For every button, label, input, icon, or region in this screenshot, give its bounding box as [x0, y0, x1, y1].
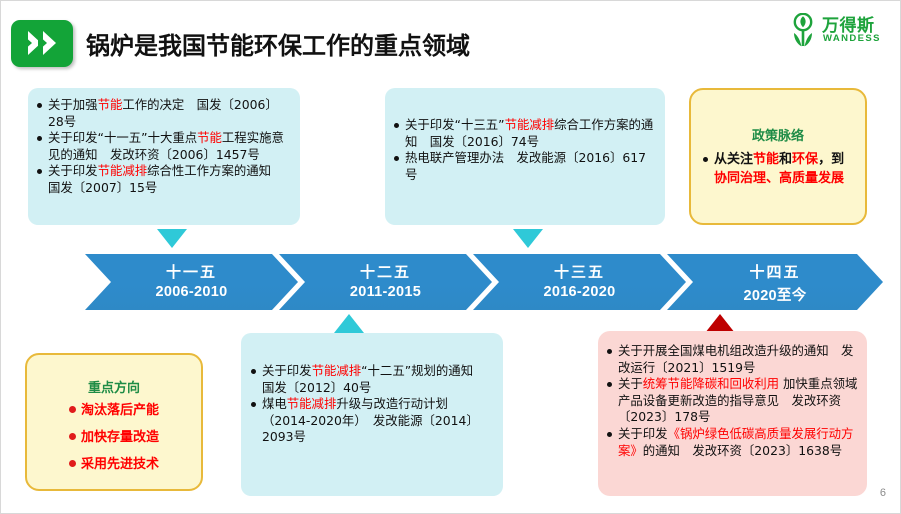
body-text: 从关注: [714, 152, 753, 167]
focus-direction-title: 重点方向: [37, 377, 191, 396]
timeline-step-1[interactable]: 十一五 2006-2010: [85, 254, 298, 310]
policy-bullet-item: 关于开展全国煤电机组改造升级的通知 发改运行〔2021〕1519号: [607, 343, 858, 376]
policy-context-title: 政策脉络: [703, 125, 853, 144]
timeline-step-2[interactable]: 十二五 2011-2015: [279, 254, 492, 310]
highlight-text: 节能: [753, 152, 779, 167]
focus-direction-item: 加快存量改造: [37, 429, 191, 446]
body-text: 关于印发: [618, 426, 668, 441]
policy-box-12th-five-year: 关于印发节能减排“十二五”规划的通知 国发〔2012〕40号煤电节能减排升级与改…: [241, 333, 503, 496]
connector-triangle-down-1: [157, 229, 187, 248]
body-text: 关于印发: [48, 163, 98, 178]
policy-box-13th-five-year: 关于印发“十三五”节能减排综合工作方案的通知 国发〔2016〕74号热电联产管理…: [385, 88, 665, 225]
policy-bullet-item: 关于印发“十一五”十大重点节能工程实施意见的通知 发改环资〔2006〕1457号: [37, 130, 290, 163]
connector-triangle-up-1: [334, 314, 364, 333]
company-logo: 万得斯 WANDESS: [788, 11, 892, 51]
policy-bullet-item: 热电联产管理办法 发改能源〔2016〕617号: [394, 150, 655, 183]
highlight-text: 节能: [98, 97, 123, 112]
timeline: 十一五 2006-2010 十二五 2011-2015 十三五 2016-202…: [85, 254, 845, 310]
policy-context-box: 政策脉络 从关注节能和环保，到协同治理、高质量发展: [689, 88, 867, 225]
connector-triangle-down-2: [513, 229, 543, 248]
highlight-text: 节能减排: [98, 163, 148, 178]
policy-box-11th-five-year: 关于加强节能工作的决定 国发〔2006〕28号关于印发“十一五”十大重点节能工程…: [28, 88, 300, 225]
highlight-text: 协同治理、高质量发展: [714, 171, 844, 186]
policy-bullet-item: 关于加强节能工作的决定 国发〔2006〕28号: [37, 97, 290, 130]
policy-bullet-item: 关于印发《锅炉绿色低碳高质量发展行动方案》的通知 发改环资〔2023〕1638号: [607, 426, 858, 459]
highlight-text: 节能: [197, 130, 222, 145]
bullet-dot-icon: [69, 460, 76, 467]
body-text: 的通知 发改环资〔2023〕1638号: [643, 443, 842, 458]
chevron-right-icon-2: [43, 31, 56, 55]
policy-bullet-item: 从关注节能和环保，到协同治理、高质量发展: [703, 150, 853, 188]
bullet-dot-icon: [69, 406, 76, 413]
highlight-text: 节能减排: [312, 363, 362, 378]
focus-direction-item: 淘汰落后产能: [37, 402, 191, 419]
double-chevron-right-icon: [11, 20, 73, 67]
policy-bullet-list: 关于印发节能减排“十二五”规划的通知 国发〔2012〕40号煤电节能减排升级与改…: [251, 363, 493, 446]
timeline-step-name: 十四五: [667, 261, 883, 282]
policy-bullet-list: 关于开展全国煤电机组改造升级的通知 发改运行〔2021〕1519号关于统筹节能降…: [607, 343, 858, 459]
body-text: 关于加强: [48, 97, 98, 112]
focus-direction-label: 淘汰落后产能: [81, 403, 159, 418]
policy-bullet-list: 关于印发“十三五”节能减排综合工作方案的通知 国发〔2016〕74号热电联产管理…: [394, 117, 655, 183]
focus-direction-box: 重点方向 淘汰落后产能加快存量改造采用先进技术: [25, 353, 203, 491]
policy-context-bullet-list: 从关注节能和环保，到协同治理、高质量发展: [703, 150, 853, 188]
focus-direction-list: 淘汰落后产能加快存量改造采用先进技术: [37, 402, 191, 473]
highlight-text: 环保: [792, 152, 818, 167]
body-text: 和: [779, 152, 792, 167]
policy-bullet-list: 关于加强节能工作的决定 国发〔2006〕28号关于印发“十一五”十大重点节能工程…: [37, 97, 290, 197]
focus-direction-label: 采用先进技术: [81, 457, 159, 472]
highlight-text: 节能减排: [287, 396, 337, 411]
policy-box-14th-five-year: 关于开展全国煤电机组改造升级的通知 发改运行〔2021〕1519号关于统筹节能降…: [598, 331, 867, 496]
body-text: 关于开展全国煤电机组改造升级的通知 发改运行〔2021〕1519号: [618, 343, 853, 375]
policy-bullet-item: 煤电节能减排升级与改造行动计划（2014-2020年） 发改能源〔2014〕20…: [251, 396, 493, 446]
body-text: 关于: [618, 376, 643, 391]
policy-bullet-item: 关于印发节能减排综合性工作方案的通知 国发〔2007〕15号: [37, 163, 290, 196]
timeline-step-years: 2006-2010: [85, 284, 298, 300]
page-title: 锅炉是我国节能环保工作的重点领域: [86, 26, 470, 61]
timeline-step-years: 2016-2020: [473, 284, 686, 300]
focus-direction-item: 采用先进技术: [37, 456, 191, 473]
slide-canvas: 锅炉是我国节能环保工作的重点领域 万得斯 WANDESS 关于加强节能工作的决定…: [0, 0, 901, 514]
bullet-dot-icon: [69, 433, 76, 440]
policy-bullet-item: 关于统筹节能降碳和回收利用 加快重点领域产品设备更新改造的指导意见 发改环资〔2…: [607, 376, 858, 426]
body-text: 煤电: [262, 396, 287, 411]
body-text: 关于印发: [262, 363, 312, 378]
policy-bullet-item: 关于印发节能减排“十二五”规划的通知 国发〔2012〕40号: [251, 363, 493, 396]
highlight-text: 统筹节能降碳和回收利用: [643, 376, 779, 391]
page-number: 6: [880, 487, 886, 499]
body-text: 关于印发“十三五”: [405, 117, 505, 132]
timeline-step-4[interactable]: 十四五 2020至今: [667, 254, 883, 310]
timeline-step-name: 十三五: [473, 261, 686, 282]
body-text: 关于印发“十一五”十大重点: [48, 130, 197, 145]
body-text: 热电联产管理办法 发改能源〔2016〕617号: [405, 150, 646, 182]
policy-bullet-item: 关于印发“十三五”节能减排综合工作方案的通知 国发〔2016〕74号: [394, 117, 655, 150]
wandess-leaf-icon: [788, 13, 818, 47]
timeline-step-name: 十一五: [85, 261, 298, 282]
logo-text-en: WANDESS: [823, 33, 881, 44]
timeline-step-years: 2011-2015: [279, 284, 492, 300]
timeline-step-years: 2020至今: [667, 284, 883, 305]
focus-direction-label: 加快存量改造: [81, 430, 159, 445]
timeline-step-name: 十二五: [279, 261, 492, 282]
timeline-step-3[interactable]: 十三五 2016-2020: [473, 254, 686, 310]
body-text: ，到: [818, 152, 844, 167]
highlight-text: 节能减排: [505, 117, 555, 132]
